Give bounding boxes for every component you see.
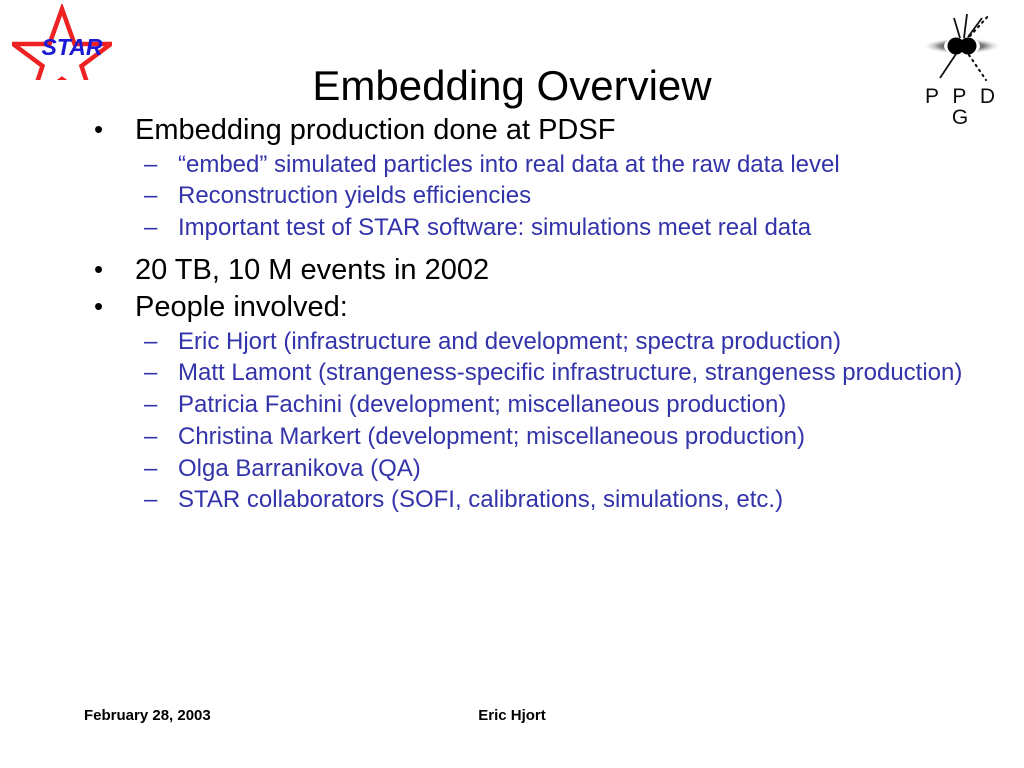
bullet-level2: – Christina Markert (development; miscel… [84,422,964,453]
bullet-marker: – [84,358,178,389]
bullet-level2: – Eric Hjort (infrastructure and develop… [84,327,964,358]
bullet-text: Eric Hjort (infrastructure and developme… [178,327,964,358]
bullet-level1: • Embedding production done at PDSF [84,112,964,149]
bullet-marker: – [84,181,178,212]
bullet-marker: • [84,252,135,287]
bullet-marker: • [84,112,135,147]
bullet-level2: – Patricia Fachini (development; miscell… [84,390,964,421]
bullet-marker: – [84,454,178,485]
bullet-text: Olga Barranikova (QA) [178,454,964,485]
bullet-text: Reconstruction yields efficiencies [178,181,964,212]
bullet-text: Important test of STAR software: simulat… [178,213,964,244]
slide-body: • Embedding production done at PDSF – “e… [84,112,964,517]
bullet-text: 20 TB, 10 M events in 2002 [135,252,964,289]
bullet-level2: – Matt Lamont (strangeness-specific infr… [84,358,964,389]
bullet-text: Embedding production done at PDSF [135,112,964,149]
bullet-level2: – Important test of STAR software: simul… [84,213,964,244]
slide-title: Embedding Overview [150,64,874,108]
bullet-text: Patricia Fachini (development; miscellan… [178,390,964,421]
star-logo: STAR [12,4,112,80]
bullet-level2: – Reconstruction yields efficiencies [84,181,964,212]
bullet-marker: – [84,213,178,244]
bullet-level1: • People involved: [84,289,964,326]
bullet-text: Matt Lamont (strangeness-specific infras… [178,358,964,389]
bullet-level2: – Olga Barranikova (QA) [84,454,964,485]
star-logo-text: STAR [34,36,110,59]
bullet-level2: – STAR collaborators (SOFI, calibrations… [84,485,964,516]
bullet-text: “embed” simulated particles into real da… [178,150,964,181]
bullet-level2: – “embed” simulated particles into real … [84,150,964,181]
bullet-marker: – [84,150,178,181]
footer-author: Eric Hjort [0,707,1024,724]
bullet-marker: • [84,289,135,324]
bullet-marker: – [84,327,178,358]
bullet-level1: • 20 TB, 10 M events in 2002 [84,252,964,289]
ppdg-logo: P P D G [912,6,1012,114]
ppdg-collision-icon [912,6,1012,86]
bullet-marker: – [84,485,178,516]
bullet-marker: – [84,390,178,421]
bullet-marker: – [84,422,178,453]
spacer [84,245,964,252]
bullet-text: Christina Markert (development; miscella… [178,422,964,453]
bullet-text: STAR collaborators (SOFI, calibrations, … [178,485,964,516]
bullet-text: People involved: [135,289,964,326]
